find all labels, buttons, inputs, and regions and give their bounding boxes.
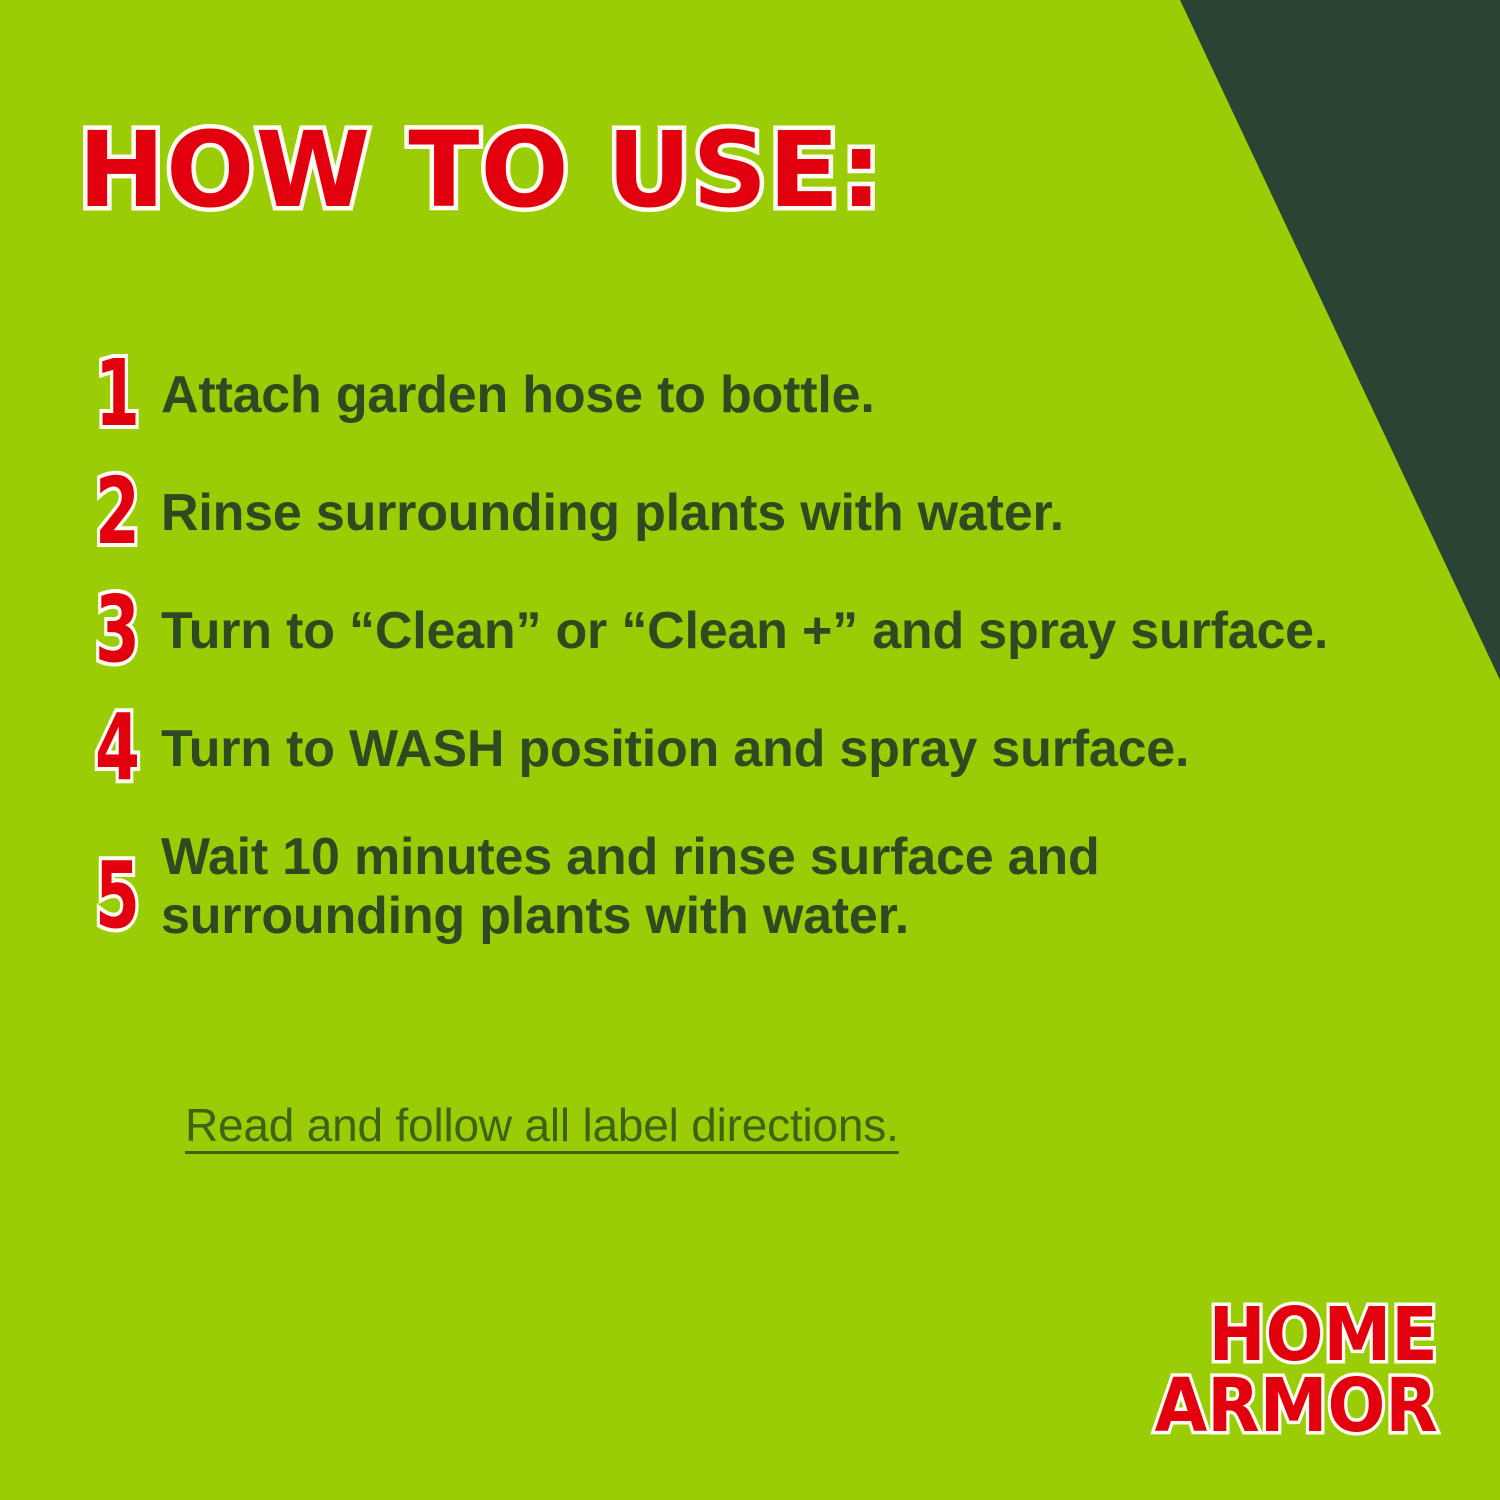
step-number-badge: 2 xyxy=(95,470,156,555)
step-text: Turn to WASH position and spray surface. xyxy=(161,706,1385,779)
steps-list: 1 Attach garden hose to bottle. 2 Rinse … xyxy=(95,352,1385,979)
step-text: Turn to “Clean” or “Clean +” and spray s… xyxy=(161,588,1385,661)
list-item: 1 Attach garden hose to bottle. xyxy=(95,352,1385,438)
step-number-badge: 3 xyxy=(95,588,156,673)
list-item: 5 Wait 10 minutes and rinse surface and … xyxy=(95,824,1385,947)
how-to-use-poster: HOW TO USE: 1 Attach garden hose to bott… xyxy=(0,0,1500,1500)
step-number-badge: 5 xyxy=(95,824,156,939)
list-item: 4 Turn to WASH position and spray surfac… xyxy=(95,706,1385,792)
step-text: Wait 10 minutes and rinse surface and su… xyxy=(161,824,1385,947)
step-text: Rinse surrounding plants with water. xyxy=(161,470,1385,543)
step-number-badge: 4 xyxy=(95,706,156,791)
label-directions-note: Read and follow all label directions. xyxy=(185,1098,899,1153)
brand-logo: HOME ARMOR xyxy=(1130,1300,1438,1442)
page-title: HOW TO USE: xyxy=(78,118,883,222)
brand-logo-line-armor: ARMOR xyxy=(1155,1371,1438,1442)
brand-logo-line-home: HOME xyxy=(1155,1300,1438,1371)
step-number-badge: 1 xyxy=(95,352,156,437)
list-item: 3 Turn to “Clean” or “Clean +” and spray… xyxy=(95,588,1385,674)
step-text: Attach garden hose to bottle. xyxy=(161,352,1385,425)
list-item: 2 Rinse surrounding plants with water. xyxy=(95,470,1385,556)
